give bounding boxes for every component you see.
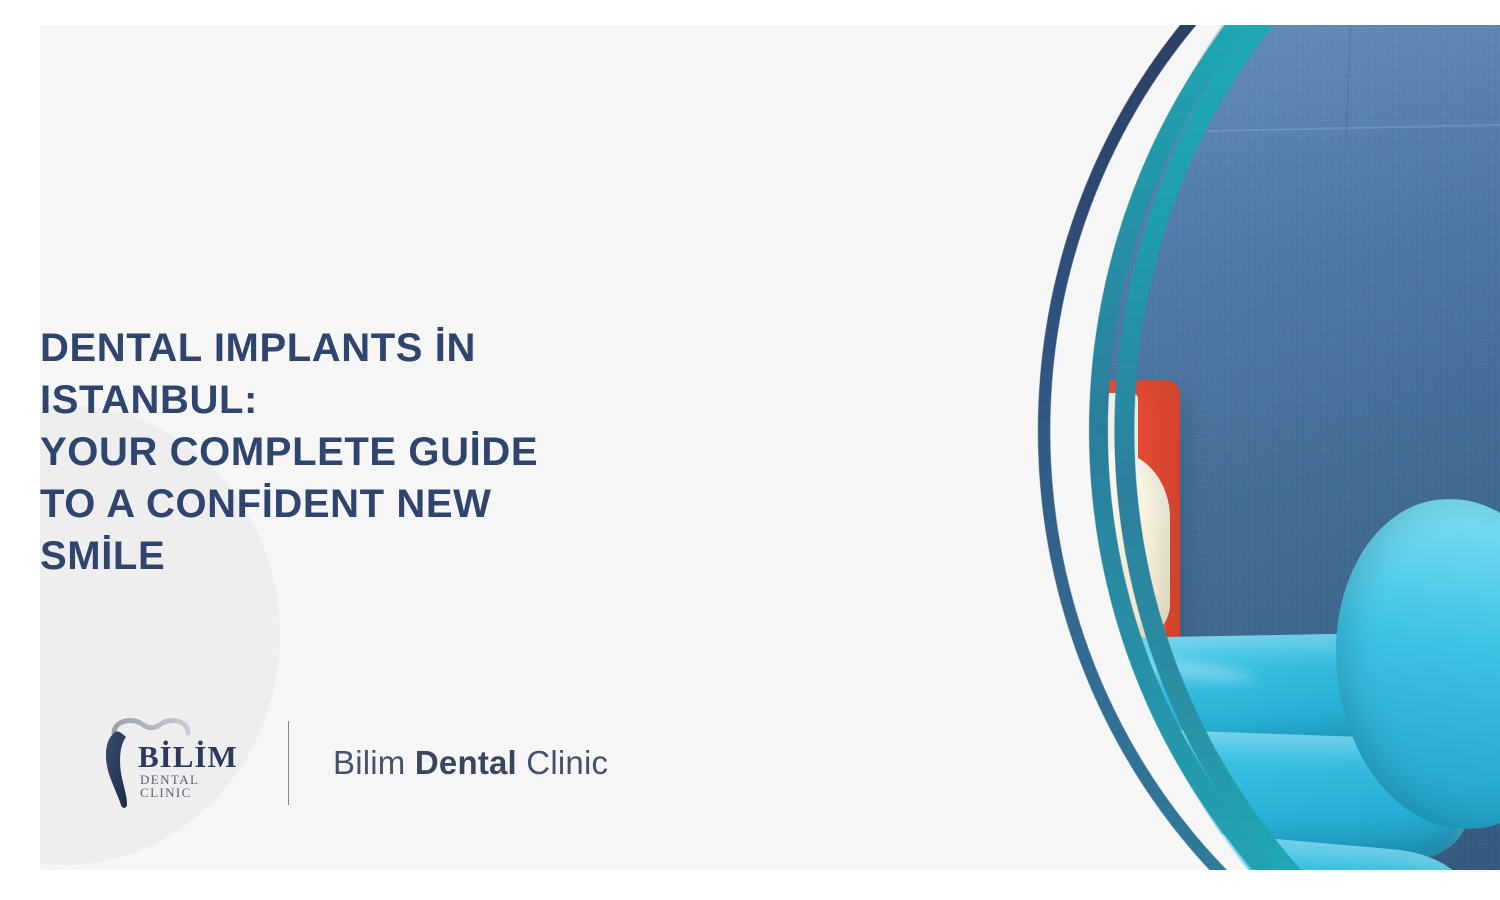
headline-line-1: DENTAL IMPLANTS İN xyxy=(40,322,660,374)
logo-mark-name: BİLİM xyxy=(138,741,238,772)
scrub-fold xyxy=(1105,25,1352,139)
banner: DENTAL IMPLANTS İN ISTANBUL: YOUR COMPLE… xyxy=(0,0,1500,900)
gloved-hand-lower xyxy=(785,484,1500,870)
wordmark-prefix: Bilim xyxy=(333,744,415,781)
headline-line-3: YOUR COMPLETE GUİDE xyxy=(40,426,660,478)
headline-line-4: TO A CONFİDENT NEW xyxy=(40,478,660,530)
headline-line-2: ISTANBUL: xyxy=(40,374,660,426)
logo-divider xyxy=(288,721,289,805)
logo-lockup[interactable]: BİLİM DENTAL CLINIC Bilim Dental Clinic xyxy=(92,715,608,811)
wordmark-suffix: Clinic xyxy=(517,744,608,781)
headline-line-5: SMİLE xyxy=(40,530,660,582)
page-title: DENTAL IMPLANTS İN ISTANBUL: YOUR COMPLE… xyxy=(40,322,660,582)
wordmark-bold: Dental xyxy=(415,744,517,781)
banner-canvas: DENTAL IMPLANTS İN ISTANBUL: YOUR COMPLE… xyxy=(40,25,1500,870)
logo-wordmark: Bilim Dental Clinic xyxy=(333,744,608,782)
tooth-icon: BİLİM DENTAL CLINIC xyxy=(92,715,252,811)
logo-mark-tagline: DENTAL CLINIC xyxy=(140,773,252,799)
